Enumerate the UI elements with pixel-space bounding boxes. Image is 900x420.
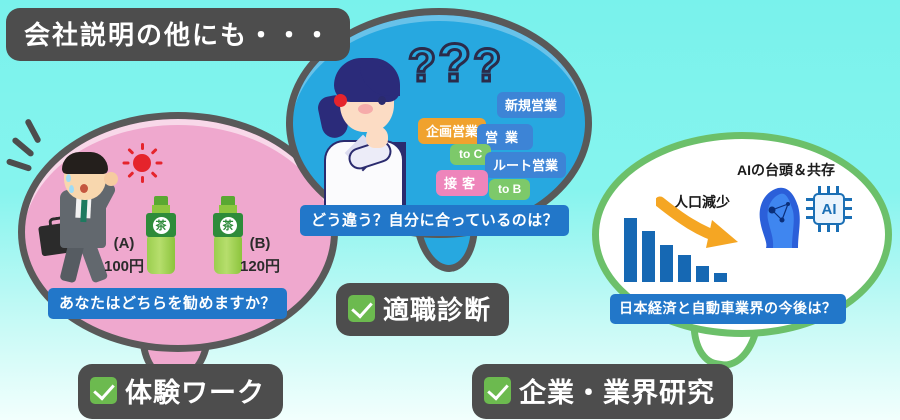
option-a-tag: (A) [104, 232, 144, 255]
chart-bar [624, 218, 637, 282]
label-kigyo-gyokai-kenkyu: 企業・業界研究 [472, 364, 733, 419]
businessman-hair [62, 152, 108, 174]
option-b-amount: 120円 [240, 255, 280, 278]
chip-pin [844, 198, 852, 201]
chip-pin [844, 207, 852, 210]
header-banner: 会社説明の他にも・・・ [6, 8, 350, 61]
job-tag-kikaku-eigyo[interactable]: 企画営業 [418, 118, 486, 144]
check-icon [348, 295, 375, 322]
label-taiken-work: 体験ワーク [78, 364, 283, 419]
option-b-tag: (B) [240, 232, 280, 255]
job-tag-to-b[interactable]: to B [489, 179, 530, 200]
question-mark: ? [473, 39, 503, 91]
sweat-drop-icon [66, 174, 71, 182]
chip-pin [844, 216, 852, 219]
motion-line [6, 158, 33, 172]
ai-head-icon [758, 186, 804, 248]
label-text: 体験ワーク [125, 371, 265, 410]
infographic-canvas: 茶 茶 (A) 100円 (B) 120円 あなたはどちらを勧めますか？ 人口減… [0, 0, 900, 420]
woman-eye [378, 96, 386, 105]
sun-ray [151, 148, 158, 155]
question-marks-decoration: ??? [408, 32, 503, 94]
sun-icon [122, 143, 162, 183]
woman-cheek [358, 104, 373, 114]
job-tag-route-eigyo[interactable]: ルート営業 [485, 152, 566, 178]
option-a-amount: 100円 [104, 255, 144, 278]
caption-research: 日本経済と自動車業界の今後は？ [610, 294, 846, 324]
caption-aptitude: どう違う？自分に合っているのは？ [300, 205, 569, 236]
bottle-label-text: 茶 [153, 217, 170, 234]
bottle-label-text: 茶 [220, 217, 237, 234]
ai-chip-icon: AI [806, 186, 852, 232]
sun-ray [141, 143, 144, 150]
chip-pin [818, 224, 821, 232]
chip-pin [836, 224, 839, 232]
option-a-price: (A) 100円 [104, 232, 144, 279]
chip-core-text: AI [813, 193, 845, 225]
sun-ray [123, 162, 130, 165]
sweat-drop-icon [69, 185, 74, 193]
question-mark: ? [438, 33, 473, 93]
hair-tie-icon [334, 94, 347, 107]
ai-trend-label: AIの台頭＆共存 [737, 160, 835, 180]
chart-bar [714, 273, 727, 282]
sun-ray [156, 162, 163, 165]
bottle-body [214, 236, 242, 274]
bottle-body [147, 236, 175, 274]
check-icon [90, 377, 117, 404]
businessman-mouth [80, 184, 88, 193]
job-tag-sekkyaku[interactable]: 接客 [436, 170, 488, 196]
motion-line [11, 136, 35, 157]
sun-ray [141, 176, 144, 183]
tea-bottle-icon-a: 茶 [145, 196, 177, 274]
caption-work: あなたはどちらを勧めますか？ [48, 288, 287, 319]
chart-bar [642, 231, 655, 282]
sun-ray [127, 148, 134, 155]
chart-bar [696, 266, 709, 282]
businessman-hand [104, 172, 118, 186]
down-arrow-icon [656, 196, 746, 258]
job-tag-shinki-eigyo[interactable]: 新規営業 [497, 92, 565, 118]
label-text: 適職診断 [383, 290, 491, 327]
label-text: 企業・業界研究 [519, 371, 715, 410]
chip-pin [827, 224, 830, 232]
sun-ray [127, 171, 134, 178]
woman-hand [366, 126, 388, 148]
option-b-price: (B) 120円 [240, 232, 280, 279]
sun-ray [151, 171, 158, 178]
thinking-woman-illustration [310, 52, 420, 204]
bottle-label: 茶 [213, 213, 243, 237]
check-icon [484, 377, 511, 404]
sun-disc [133, 154, 151, 172]
chart-bar [678, 255, 691, 282]
bottle-label: 茶 [146, 213, 176, 237]
label-tekishoku-shindan: 適職診断 [336, 283, 509, 336]
